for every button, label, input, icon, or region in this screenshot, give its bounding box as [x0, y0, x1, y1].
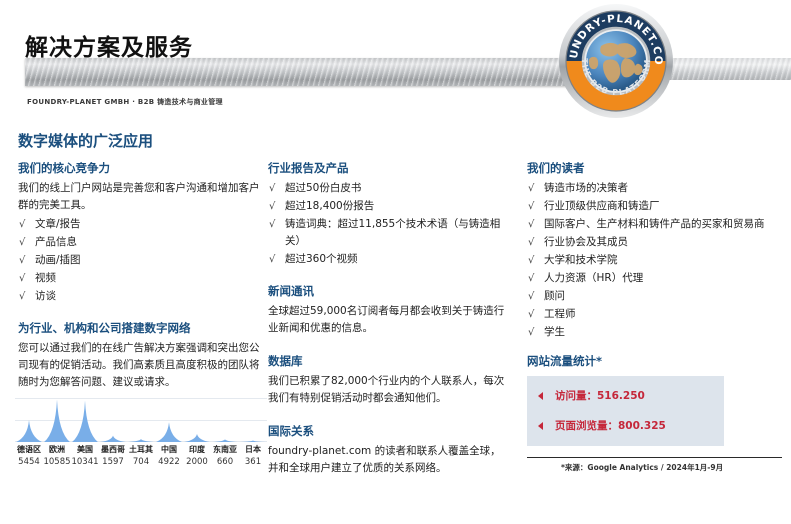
- list-item-label: 超过18,400份报告: [285, 200, 374, 212]
- list-item: √动画/插图: [18, 252, 263, 269]
- chart-value-label: 1597: [99, 456, 127, 468]
- stat-value: 800.325: [618, 420, 666, 432]
- list-item: √国际客户、生产材料和铸件产品的买家和贸易商: [527, 216, 782, 233]
- chart-value-label: 5454: [15, 456, 43, 468]
- check-icon: √: [19, 234, 25, 251]
- list-item-label: 工程师: [544, 308, 576, 320]
- page-header: 解决方案及服务 FOUNDRY-PLANET GMBH · B2B 铸造技术与商…: [0, 0, 791, 118]
- chart-category-cell: 中国4922: [155, 444, 183, 468]
- check-icon: √: [19, 252, 25, 269]
- list-item: √视频: [18, 270, 263, 287]
- chart-category-label: 中国: [155, 444, 183, 456]
- block-title-core-competence: 我们的核心竞争力: [18, 160, 263, 176]
- check-icon: √: [528, 234, 534, 251]
- list-item-label: 顾问: [544, 290, 565, 302]
- list-item: √工程师: [527, 306, 782, 323]
- chart-value-label: 660: [211, 456, 239, 468]
- list-item-label: 国际客户、生产材料和铸件产品的买家和贸易商: [544, 218, 765, 230]
- chart-category-cell: 日本361: [239, 444, 267, 468]
- check-icon: √: [528, 252, 534, 269]
- stats-title: 网站流量统计*: [527, 353, 782, 369]
- check-icon: √: [19, 216, 25, 233]
- list-item-label: 访谈: [35, 290, 56, 302]
- chart-category-label: 德语区: [15, 444, 43, 456]
- list-item: √铸造词典：超过11,855个技术术语（与铸造相关）: [268, 216, 508, 250]
- foundry-planet-logo: FOUNDRY-PLANET.COM THE B2B PLATFORM: [557, 2, 675, 120]
- chart-category-cell: 东南亚660: [211, 444, 239, 468]
- chart-category-label: 东南亚: [211, 444, 239, 456]
- list-item: √访谈: [18, 288, 263, 305]
- list-item: √文章/报告: [18, 216, 263, 233]
- list-item-label: 行业顶级供应商和铸造厂: [544, 200, 660, 212]
- traffic-stats-box: 访问量：516.250 页面浏览量：800.325: [527, 376, 724, 446]
- stat-label: 页面浏览量：: [555, 420, 618, 432]
- chart-series-spikes: [15, 398, 267, 442]
- chart-category-label: 墨西哥: [99, 444, 127, 456]
- stat-row-visits: 访问量：516.250: [535, 388, 714, 404]
- check-icon: √: [528, 180, 534, 197]
- slide-page: 解决方案及服务 FOUNDRY-PLANET GMBH · B2B 铸造技术与商…: [0, 0, 791, 524]
- list-item-label: 铸造词典：超过11,855个技术术语（与铸造相关）: [285, 218, 500, 247]
- visitors-by-region-chart: 德语区5454欧洲10585美国10341墨西哥1597土耳其704中国4922…: [15, 398, 267, 488]
- check-icon: √: [528, 288, 534, 305]
- stat-label: 访问量：: [555, 390, 597, 402]
- block-title-reports-products: 行业报告及产品: [268, 160, 508, 176]
- block-title-digital-network: 为行业、机构和公司搭建数字网络: [18, 320, 263, 336]
- page-title: 解决方案及服务: [25, 28, 193, 62]
- block-para-international: foundry-planet.com 的读者和联系人覆盖全球，并和全球用户建立了…: [268, 443, 508, 477]
- stats-source-note: *来源：Google Analytics / 2024年1月-9月: [527, 462, 782, 473]
- column-left: 我们的核心竞争力 我们的线上门户网站是完善您和客户沟通和增加客户群的完美工具。 …: [18, 160, 263, 393]
- chart-value-label: 704: [127, 456, 155, 468]
- list-item-label: 超过50份白皮书: [285, 182, 361, 194]
- block-para-digital-network: 您可以通过我们的在线广告解决方案强调和突出您公司现有的促销活动。我们高素质且高度…: [18, 340, 263, 391]
- chart-category-cell: 德语区5454: [15, 444, 43, 468]
- list-item-label: 视频: [35, 272, 56, 284]
- bullet-triangle-icon: [538, 392, 543, 400]
- check-icon: √: [528, 306, 534, 323]
- list-item-label: 产品信息: [35, 236, 77, 248]
- column-right: 我们的读者 √铸造市场的决策者 √行业顶级供应商和铸造厂 √国际客户、生产材料和…: [527, 160, 782, 473]
- chart-category-cell: 美国10341: [71, 444, 99, 468]
- list-item: √学生: [527, 324, 782, 341]
- chart-category-label: 欧洲: [43, 444, 71, 456]
- company-subtitle: FOUNDRY-PLANET GMBH · B2B 铸造技术与商业管理: [27, 97, 223, 107]
- check-icon: √: [19, 270, 25, 287]
- stat-row-pageviews: 页面浏览量：800.325: [535, 418, 714, 434]
- list-item: √行业顶级供应商和铸造厂: [527, 198, 782, 215]
- stat-value: 516.250: [597, 390, 645, 402]
- chart-x-axis-labels: 德语区5454欧洲10585美国10341墨西哥1597土耳其704中国4922…: [15, 444, 267, 468]
- list-item: √超过18,400份报告: [268, 198, 508, 215]
- list-item: √铸造市场的决策者: [527, 180, 782, 197]
- chart-value-label: 10585: [43, 456, 71, 468]
- list-item-label: 动画/插图: [35, 254, 81, 266]
- chart-category-cell: 印度2000: [183, 444, 211, 468]
- list-item-label: 文章/报告: [35, 218, 81, 230]
- list-item-label: 学生: [544, 326, 565, 338]
- spacer: [268, 339, 508, 353]
- block-para-core-competence: 我们的线上门户网站是完善您和客户沟通和增加客户群的完美工具。: [18, 180, 263, 214]
- check-icon: √: [528, 324, 534, 341]
- check-icon: √: [19, 288, 25, 305]
- list-item-label: 行业协会及其成员: [544, 236, 628, 248]
- list-item: √人力资源（HR）代理: [527, 270, 782, 287]
- logo-badge-icon: FOUNDRY-PLANET.COM THE B2B PLATFORM: [557, 2, 675, 120]
- block-title-international: 国际关系: [268, 423, 508, 439]
- block-title-database: 数据库: [268, 353, 508, 369]
- list-item-label: 大学和技术学院: [544, 254, 618, 266]
- list-item-label: 铸造市场的决策者: [544, 182, 628, 194]
- list-our-readers: √铸造市场的决策者 √行业顶级供应商和铸造厂 √国际客户、生产材料和铸件产品的买…: [527, 180, 782, 341]
- check-icon: √: [269, 216, 275, 233]
- block-title-our-readers: 我们的读者: [527, 160, 782, 176]
- list-item: √行业协会及其成员: [527, 234, 782, 251]
- chart-value-label: 2000: [183, 456, 211, 468]
- check-icon: √: [528, 216, 534, 233]
- chart-category-cell: 欧洲10585: [43, 444, 71, 468]
- spacer: [268, 409, 508, 423]
- check-icon: √: [269, 198, 275, 215]
- check-icon: √: [528, 270, 534, 287]
- check-icon: √: [528, 198, 534, 215]
- chart-category-cell: 土耳其704: [127, 444, 155, 468]
- chart-category-label: 土耳其: [127, 444, 155, 456]
- column-middle: 行业报告及产品 √超过50份白皮书 √超过18,400份报告 √铸造词典：超过1…: [268, 160, 508, 479]
- check-icon: √: [269, 180, 275, 197]
- block-para-newsletter: 全球超过59,000名订阅者每月都会收到关于铸造行业新闻和优惠的信息。: [268, 303, 508, 337]
- chart-category-label: 美国: [71, 444, 99, 456]
- spacer: [18, 306, 263, 320]
- block-para-database: 我们已积累了82,000个行业内的个人联系人，每次我们有特别促销活动时都会通知他…: [268, 373, 508, 407]
- list-item: √产品信息: [18, 234, 263, 251]
- block-title-newsletter: 新闻通讯: [268, 283, 508, 299]
- list-item: √超过360个视频: [268, 251, 508, 268]
- metal-bar-decor: [25, 58, 625, 86]
- chart-category-cell: 墨西哥1597: [99, 444, 127, 468]
- chart-value-label: 10341: [71, 456, 99, 468]
- spacer: [268, 269, 508, 283]
- divider: [527, 457, 782, 458]
- chart-category-label: 日本: [239, 444, 267, 456]
- list-item-label: 人力资源（HR）代理: [544, 272, 643, 284]
- list-reports-products: √超过50份白皮书 √超过18,400份报告 √铸造词典：超过11,855个技术…: [268, 180, 508, 268]
- list-item-label: 超过360个视频: [285, 253, 358, 265]
- check-icon: √: [269, 251, 275, 268]
- chart-value-label: 4922: [155, 456, 183, 468]
- list-core-competence: √文章/报告 √产品信息 √动画/插图 √视频 √访谈: [18, 216, 263, 305]
- chart-value-label: 361: [239, 456, 267, 468]
- spacer: [527, 342, 782, 353]
- list-item: √超过50份白皮书: [268, 180, 508, 197]
- bullet-triangle-icon: [538, 422, 543, 430]
- list-item: √大学和技术学院: [527, 252, 782, 269]
- section-title: 数字媒体的广泛应用: [18, 130, 153, 151]
- chart-category-label: 印度: [183, 444, 211, 456]
- list-item: √顾问: [527, 288, 782, 305]
- chart-plot-area: [15, 398, 267, 442]
